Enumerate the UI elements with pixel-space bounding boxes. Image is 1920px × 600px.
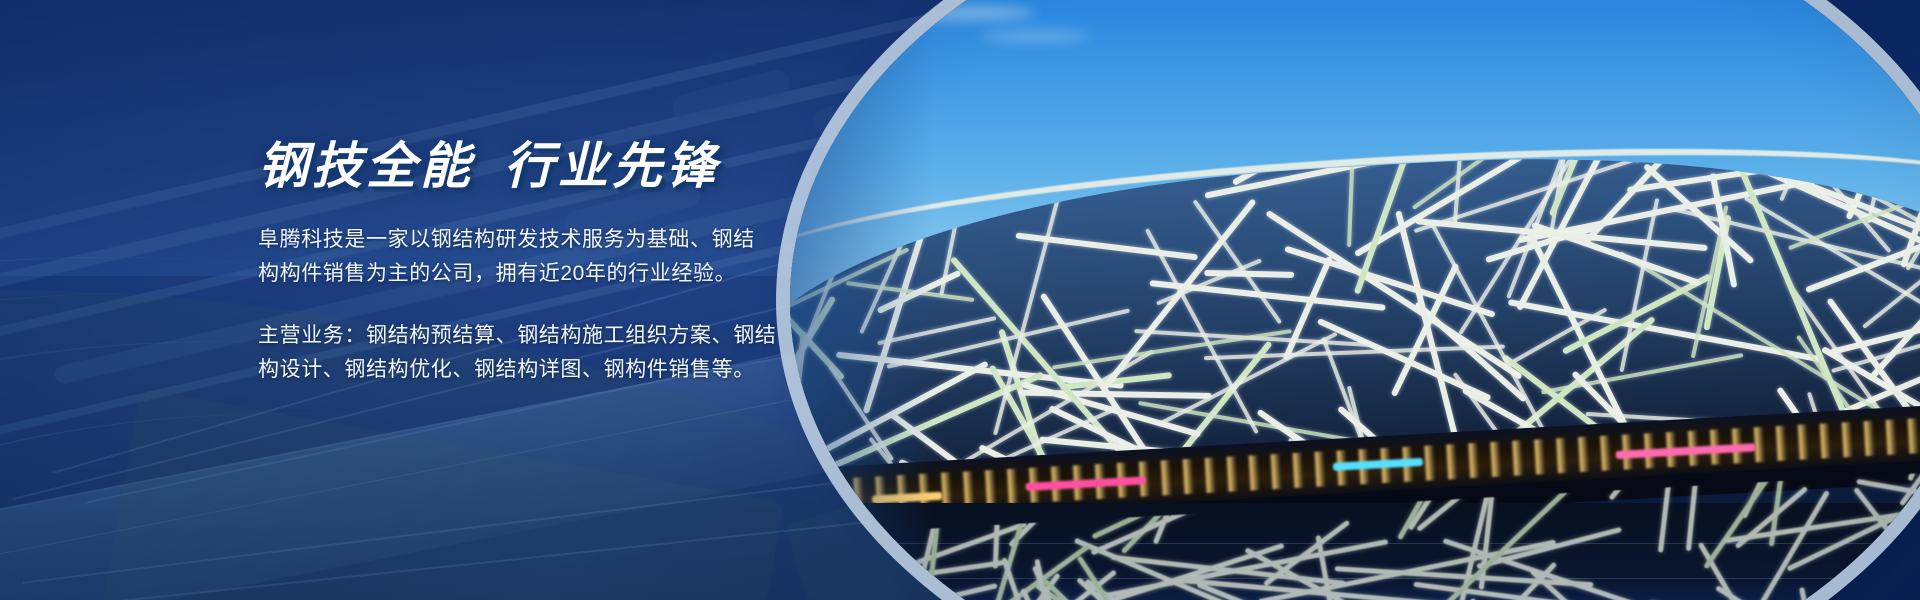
paragraph-2-line-2: 构设计、钢结构优化、钢结构详图、钢构件销售等。 [258, 353, 778, 387]
paragraph-2-line-1: 主营业务：钢结构预结算、钢结构施工组织方案、钢结 [258, 319, 778, 353]
banner-paragraph-1: 阜腾科技是一家以钢结构研发技术服务为基础、钢结 构构件销售为主的公司，拥有近20… [258, 223, 778, 291]
banner-paragraph-2: 主营业务：钢结构预结算、钢结构施工组织方案、钢结 构设计、钢结构优化、钢结构详图… [258, 319, 778, 387]
paragraph-1-line-1: 阜腾科技是一家以钢结构研发技术服务为基础、钢结 [258, 223, 778, 257]
hero-banner: 钢技全能行业先锋 阜腾科技是一家以钢结构研发技术服务为基础、钢结 构构件销售为主… [0, 0, 1920, 600]
headline-part-1: 钢技全能 [258, 138, 474, 194]
photo-edge-shading [790, 0, 1920, 600]
stadium-photo [790, 0, 1920, 600]
banner-copy: 钢技全能行业先锋 阜腾科技是一家以钢结构研发技术服务为基础、钢结 构构件销售为主… [258, 140, 778, 387]
banner-headline: 钢技全能行业先锋 [258, 140, 778, 193]
paragraph-1-line-2: 构构件销售为主的公司，拥有近20年的行业经验。 [258, 257, 778, 291]
circular-photo-frame [790, 0, 1920, 600]
headline-part-2: 行业先锋 [504, 138, 720, 194]
